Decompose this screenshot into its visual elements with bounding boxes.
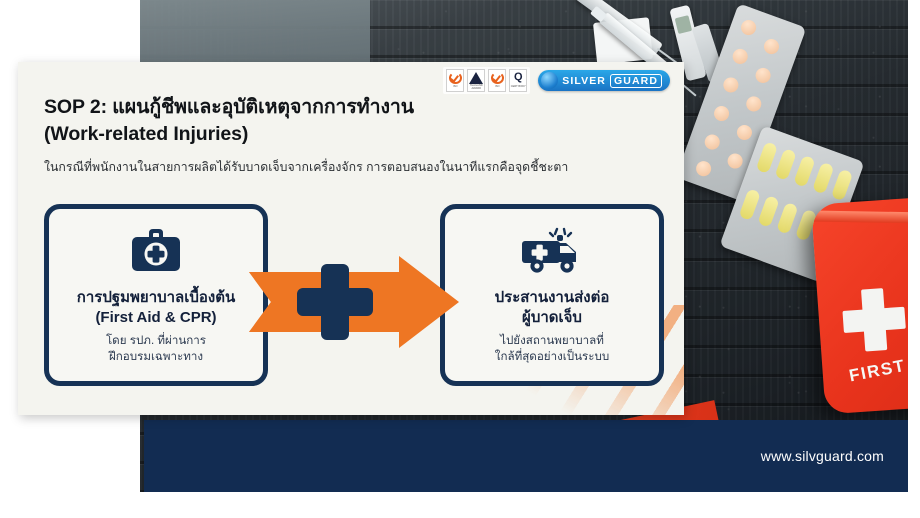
flow-step-title-line-2: (First Aid & CPR) (77, 308, 235, 328)
cross-horizontal (297, 288, 373, 316)
flow-step-transfer[interactable]: ประสานงานส่งต่อ ผู้บาดเจ็บ ไปยังสถานพยาบ… (440, 204, 664, 386)
page-title-line-1: SOP 2: แผนกู้ชีพและอุบัติเหตุจากการทำงาน (44, 94, 658, 121)
cross-vertical (321, 264, 349, 340)
flow-step-title-line-2: ผู้บาดเจ็บ (495, 308, 610, 328)
first-aid-bag: FIRST AID (811, 188, 908, 415)
orange-arrow-with-medical-cross (249, 256, 459, 348)
page-subtitle: ในกรณีที่พนักงานในสายการผลิตได้รับบาดเจ็… (44, 159, 658, 177)
bag-zipper (811, 210, 908, 226)
medical-cross-icon (842, 307, 905, 333)
slide-root: FIRST AID www.silvguard.com ISO (0, 0, 920, 518)
first-aid-kit-icon (128, 227, 184, 280)
flow-step-first-aid[interactable]: การปฐมพยาบาลเบื้องต้น (First Aid & CPR) … (44, 204, 268, 386)
ambulance-icon (519, 227, 585, 280)
flow-step-desc-line-1: ไปยังสถานพยาบาลที่ (495, 333, 609, 349)
flow-step-title-line-1: การปฐมพยาบาลเบื้องต้น (77, 288, 235, 308)
page-title: SOP 2: แผนกู้ชีพและอุบัติเหตุจากการทำงาน… (44, 94, 658, 148)
flow-step-title-line-1: ประสานงานส่งต่อ (495, 288, 610, 308)
arrow-shape (249, 256, 459, 348)
flow-step-desc-line-2: ฝึกอบรมเฉพาะทาง (106, 349, 206, 365)
flow-step-title: การปฐมพยาบาลเบื้องต้น (First Aid & CPR) (77, 288, 235, 327)
flow-step-desc-line-2: ใกล้ที่สุดอย่างเป็นระบบ (495, 349, 609, 365)
footer-bar: www.silvguard.com (144, 420, 908, 492)
page-title-line-2: (Work-related Injuries) (44, 121, 658, 148)
flow-diagram: การปฐมพยาบาลเบื้องต้น (First Aid & CPR) … (44, 204, 664, 386)
content-card: ISO THAILAND AWARD ISO Q (18, 62, 684, 415)
footer-website-url[interactable]: www.silvguard.com (761, 448, 884, 464)
flow-step-desc: ไปยังสถานพยาบาลที่ ใกล้ที่สุดอย่างเป็นระ… (495, 333, 609, 365)
thermometer-screen (675, 15, 692, 34)
flow-step-desc: โดย รปภ. ที่ผ่านการ ฝึกอบรมเฉพาะทาง (106, 333, 206, 365)
flow-step-desc-line-1: โดย รปภ. ที่ผ่านการ (106, 333, 206, 349)
first-aid-bag-label: FIRST AID (847, 348, 908, 386)
flow-step-title: ประสานงานส่งต่อ ผู้บาดเจ็บ (495, 288, 610, 327)
